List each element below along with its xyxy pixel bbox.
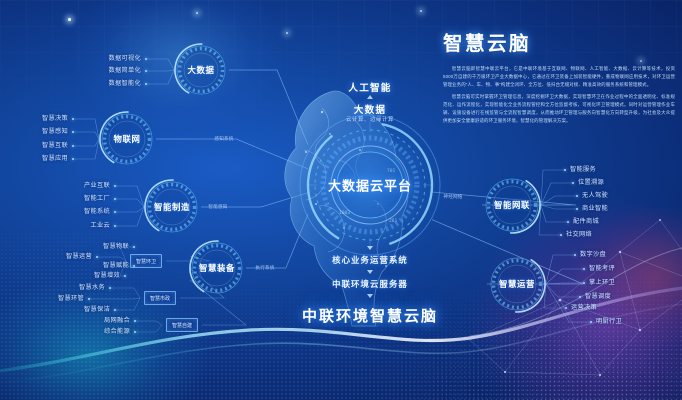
- node-item-label: 智慧调度: [585, 294, 611, 300]
- center-line2: 中联环境云服务器: [332, 278, 408, 290]
- leader-dot: [583, 268, 585, 270]
- leader-dot: [114, 309, 116, 311]
- node-item-label: 智慧应用: [42, 156, 68, 162]
- node-item-label: 智能工厂: [84, 196, 110, 202]
- leader-dot: [576, 208, 578, 210]
- group-box[interactable]: 智慧自建: [166, 318, 198, 332]
- leader-dot: [134, 331, 136, 333]
- node-item-label: 产业互联: [84, 183, 110, 189]
- center-sub-label: 云计算、边缘计算: [346, 115, 394, 123]
- node-item-label: 数据智能化: [109, 81, 141, 87]
- leader-dot: [72, 145, 74, 147]
- leader-dot: [564, 169, 566, 171]
- central-hub[interactable]: 7011003281 大数据云平台: [295, 110, 445, 260]
- connector-label: 智能感知: [208, 204, 227, 210]
- leader-dot: [96, 256, 98, 258]
- node-connected[interactable]: 智能网联: [482, 175, 542, 235]
- hub-label: 大数据云平台: [328, 176, 412, 195]
- leader-dot: [565, 307, 567, 309]
- svg-text:1003: 1003: [339, 210, 350, 216]
- leader-dot: [579, 296, 581, 298]
- infographic-canvas: 7011003281 大数据云平台 人工智能 大数据 云计算、边缘计算 核心业务…: [0, 0, 682, 400]
- leader-dot: [576, 195, 578, 197]
- node-manufacture[interactable]: 智能制造: [143, 178, 201, 236]
- panel-body: 智慧云脑即智慧中联云平台，它是中联环境基于互联网、物联网、人工智能、大数据、云计…: [443, 65, 675, 125]
- leader-dot: [133, 246, 135, 248]
- node-item-label: 明厨行卫: [596, 319, 622, 325]
- node-item-label: 运营决策: [571, 305, 597, 311]
- connector-label: 神经网络: [443, 194, 462, 200]
- node-label: 智慧运营: [499, 278, 535, 290]
- group-item-label: 综合能源: [104, 329, 130, 335]
- panel-title: 智慧云脑: [443, 27, 675, 56]
- group-item-label: 智慧保洁: [84, 307, 110, 313]
- node-label: 物联网: [114, 133, 141, 145]
- panel-paragraph: 智慧云脑可实时掌握环卫管理信息，深度挖掘环卫大数据，实现智慧环卫在作业过程中的全…: [443, 93, 675, 125]
- leader-dot: [114, 185, 116, 187]
- group-item-label: 智慧赋能: [103, 263, 129, 269]
- group-item-label: 智慧环管: [58, 296, 84, 302]
- node-operation[interactable]: 智慧运营: [487, 254, 547, 314]
- leader-dot: [145, 83, 147, 85]
- leader-dot: [583, 282, 585, 284]
- center-bigdata-label: 大数据: [354, 102, 386, 116]
- node-item-label: 位置溯源: [578, 180, 604, 186]
- connector-label: 感知系统: [214, 136, 233, 142]
- node-label: 智能网联: [494, 199, 530, 211]
- leader-dot: [88, 298, 90, 300]
- node-label: 大数据: [188, 64, 215, 76]
- group-item-label: 智慧运营: [66, 254, 92, 260]
- center-line1: 核心业务运营系统: [332, 254, 408, 266]
- node-bigdata[interactable]: 大数据: [173, 42, 229, 98]
- leader-dot: [114, 225, 116, 227]
- leader-dot: [145, 58, 147, 60]
- center-arrow-up: [367, 95, 373, 99]
- node-item-label: 社交网络: [566, 232, 592, 238]
- leader-dot: [124, 275, 126, 277]
- node-label: 智慧装备: [199, 262, 235, 274]
- group-item-label: 局网融合: [104, 318, 130, 324]
- node-item-label: 智慧互联: [42, 143, 68, 149]
- info-panel: 智慧云脑 智慧云脑即智慧中联云平台，它是中联环境基于互联网、物联网、人工智能、大…: [443, 27, 675, 129]
- node-item-label: 数字沙盘: [580, 252, 606, 258]
- node-item-label: 无人驾驶: [582, 193, 608, 199]
- node-item-label: 智能服务: [570, 167, 596, 173]
- leader-dot: [572, 182, 574, 184]
- connector-label: 执行系统: [255, 265, 274, 271]
- node-item-label: 智能考评: [589, 266, 615, 272]
- node-item-label: 智能系统: [84, 209, 110, 215]
- leader-dot: [574, 254, 576, 256]
- node-item-label: 工业云: [91, 223, 110, 229]
- node-item-label: 掌上环卫: [589, 280, 615, 286]
- group-box[interactable]: 智慧市政: [144, 291, 176, 305]
- center-title: 中联环境智慧云脑: [302, 305, 438, 326]
- leader-dot: [134, 320, 136, 322]
- node-item-label: 数据可视化: [109, 56, 141, 62]
- center-ai-label: 人工智能: [348, 80, 391, 94]
- leader-dot: [145, 70, 147, 72]
- leader-dot: [567, 221, 569, 223]
- node-item-label: 商业智能: [582, 206, 608, 212]
- svg-text:701: 701: [387, 168, 396, 174]
- leader-dot: [133, 265, 135, 267]
- group-item-label: 智慧水务: [79, 285, 105, 291]
- leader-dot: [72, 118, 74, 120]
- group-item-label: 智慧增效: [94, 273, 120, 279]
- group-item-label: 智慧物联: [103, 244, 129, 250]
- leader-dot: [114, 198, 116, 200]
- center-arrow-3: [367, 294, 373, 298]
- node-item-label: 智慧决策: [42, 116, 68, 122]
- leader-dot: [114, 211, 116, 213]
- node-label: 智能制造: [154, 201, 190, 213]
- svg-text:281: 281: [389, 218, 398, 224]
- leader-dot: [72, 131, 74, 133]
- leader-dot: [72, 158, 74, 160]
- leader-dot: [109, 287, 111, 289]
- center-arrow-2: [367, 270, 373, 274]
- node-equipment[interactable]: 智慧装备: [188, 239, 246, 297]
- node-item-label: 智慧感知: [42, 129, 68, 135]
- leader-dot: [590, 321, 592, 323]
- node-item-label: 数据简单化: [109, 68, 141, 74]
- leader-dot: [560, 234, 562, 236]
- node-iot[interactable]: 物联网: [98, 110, 156, 168]
- panel-paragraph: 智慧云脑即智慧中联云平台，它是中联环境基于互联网、物联网、人工智能、大数据、云计…: [443, 65, 675, 89]
- center-arrow-1: [367, 246, 373, 250]
- node-item-label: 配件商城: [573, 219, 599, 225]
